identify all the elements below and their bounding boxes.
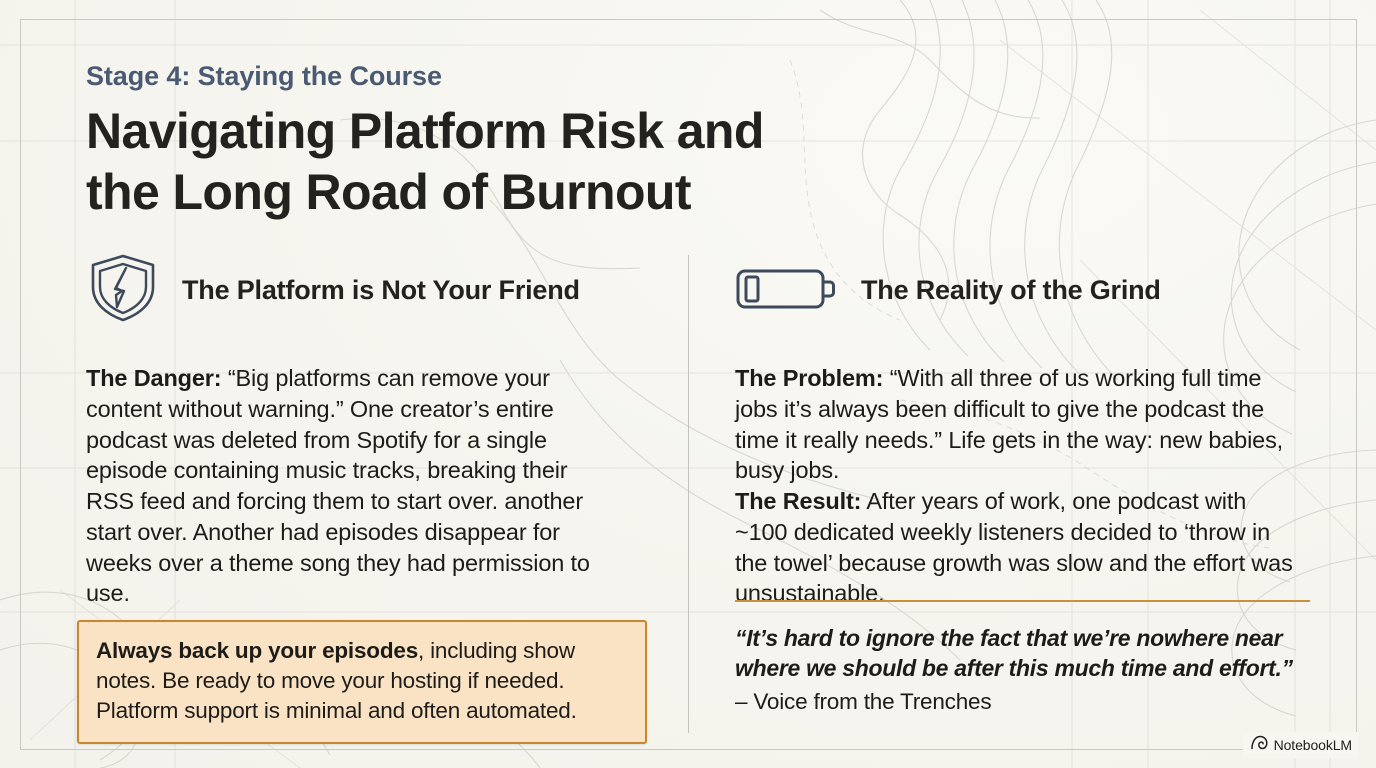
notebooklm-spiral-icon — [1251, 735, 1268, 755]
right-column-body: The Problem: “With all three of us worki… — [735, 363, 1300, 609]
page-title-line-2: the Long Road of Burnout — [86, 164, 691, 220]
notebooklm-label: NotebookLM — [1274, 737, 1352, 753]
quote-divider-rule — [735, 600, 1310, 602]
right-problem-label: The Problem: — [735, 365, 883, 391]
left-column: The Platform is Not Your Friend The Dang… — [86, 252, 646, 609]
slide-canvas: Stage 4: Staying the Course Navigating P… — [0, 0, 1376, 768]
right-column-heading: The Reality of the Grind — [861, 275, 1161, 306]
page-title-line-1: Navigating Platform Risk and — [86, 103, 764, 159]
slide-header: Stage 4: Staying the Course Navigating P… — [86, 60, 966, 223]
callout-text: Always back up your episodes, including … — [96, 636, 628, 726]
right-column-header: The Reality of the Grind — [735, 252, 1310, 328]
stage-eyebrow-label: Stage 4: Staying the Course — [86, 60, 966, 92]
page-title: Navigating Platform Risk and the Long Ro… — [86, 101, 966, 223]
callout-bold-lead: Always back up your episodes — [96, 638, 418, 663]
left-column-body: The Danger: “Big platforms can remove yo… — [86, 363, 616, 609]
left-column-header: The Platform is Not Your Friend — [86, 252, 646, 328]
left-column-heading: The Platform is Not Your Friend — [182, 275, 580, 306]
shield-crack-icon — [86, 251, 160, 330]
quote-block: “It’s hard to ignore the fact that we’re… — [735, 600, 1310, 716]
column-divider — [688, 255, 689, 733]
right-column: The Reality of the Grind The Problem: “W… — [735, 252, 1310, 609]
left-body-label: The Danger: — [86, 365, 221, 391]
right-result-label: The Result: — [735, 488, 861, 514]
backup-callout-box: Always back up your episodes, including … — [77, 620, 647, 744]
battery-low-icon — [735, 262, 839, 319]
notebooklm-watermark: NotebookLM — [1243, 732, 1358, 758]
left-body-text: “Big platforms can remove your content w… — [86, 365, 590, 606]
quote-text: “It’s hard to ignore the fact that we’re… — [735, 623, 1310, 684]
quote-attribution: – Voice from the Trenches — [735, 687, 1310, 716]
